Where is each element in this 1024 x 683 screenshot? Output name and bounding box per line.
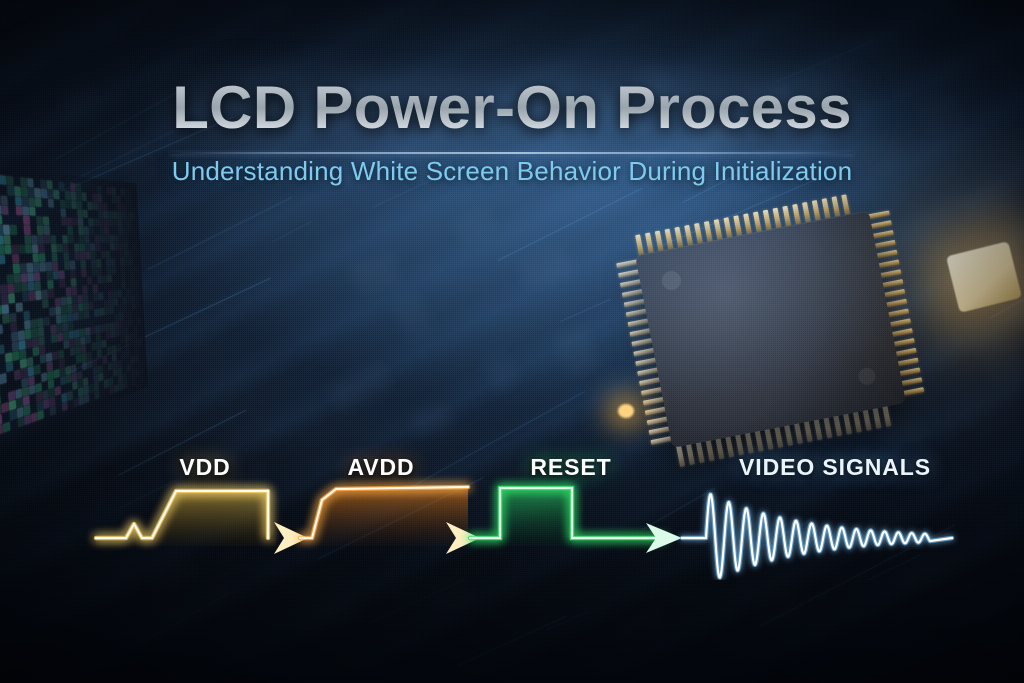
glowing-led-highlight xyxy=(618,404,634,418)
signal-label-avdd: AVDD xyxy=(347,454,414,481)
waveform-video-signals xyxy=(682,494,952,577)
lcd-pixel-matrix-panel xyxy=(0,166,144,457)
signal-label-reset: RESET xyxy=(530,454,611,481)
glowing-component-highlight xyxy=(946,241,1022,313)
infographic-canvas: LCD Power-On Process Understanding White… xyxy=(0,0,1024,683)
page-subtitle: Understanding White Screen Behavior Duri… xyxy=(0,138,1024,187)
signal-label-vdd: VDD xyxy=(179,454,230,481)
page-title: LCD Power-On Process xyxy=(0,0,1024,138)
header: LCD Power-On Process Understanding White… xyxy=(0,0,1024,187)
signal-label-video-signals: VIDEO SIGNALS xyxy=(739,454,931,481)
title-divider xyxy=(170,152,854,154)
lcd-panel-fade xyxy=(0,154,148,469)
power-on-sequence-diagram: VDD AVDD RESET VIDEO SIGNALS xyxy=(0,440,1024,580)
